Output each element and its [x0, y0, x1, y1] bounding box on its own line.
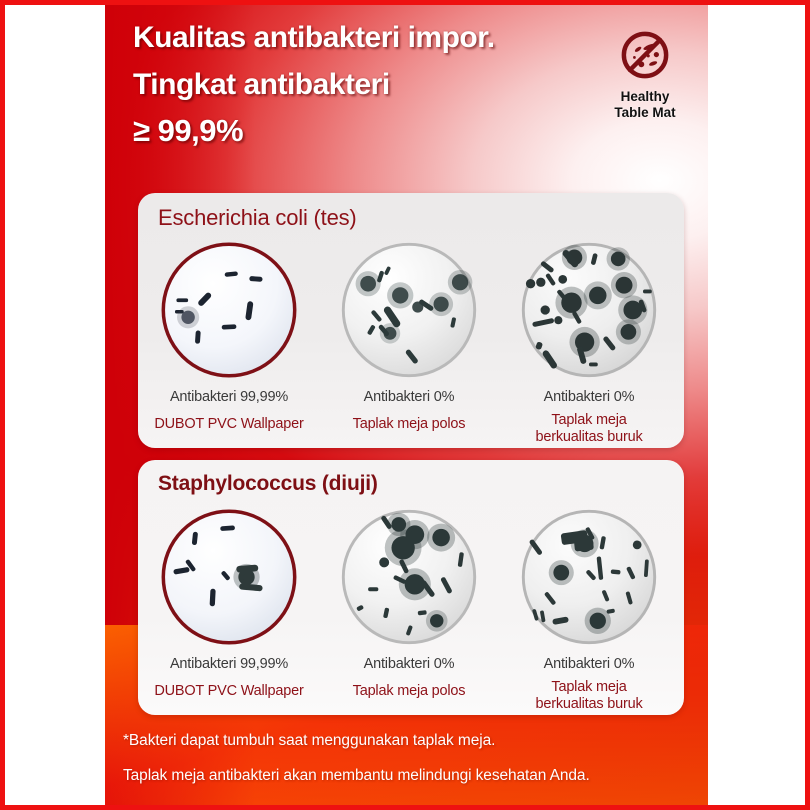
antibacterial-percent: Antibakteri 0%: [318, 389, 500, 406]
no-bacteria-icon: [619, 29, 671, 81]
sample-name: Taplak meja polos: [318, 683, 500, 700]
sample-column-2: Antibakteri 0% Taplak meja berkualitas b…: [498, 237, 680, 446]
test-card-staphylococcus: Staphylococcus (diuji): [138, 460, 684, 715]
dish-row: Antibakteri 99,99% DUBOT PVC Wallpaper: [138, 504, 684, 709]
petri-dish-icon: [516, 237, 662, 383]
logo-label: Healthy Table Mat: [597, 89, 693, 121]
dish-row: Antibakteri 99,99% DUBOT PVC Wallpaper: [138, 237, 684, 442]
sample-column-0: Antibakteri 99,99% DUBOT PVC Wallpaper: [138, 237, 320, 433]
sample-name-line-1: Taplak meja: [498, 679, 680, 696]
antibacterial-percent: Antibakteri 0%: [318, 656, 500, 673]
antibacterial-percent: Antibakteri 99,99%: [138, 389, 320, 406]
brand-logo: Healthy Table Mat: [597, 29, 693, 121]
antibacterial-percent: Antibakteri 0%: [498, 656, 680, 673]
sample-name: DUBOT PVC Wallpaper: [138, 683, 320, 700]
sample-name: Taplak meja polos: [318, 416, 500, 433]
sample-column-1: Antibakteri 0% Taplak meja polos: [318, 504, 500, 700]
sample-name-line-1: Taplak meja: [498, 412, 680, 429]
sample-column-1: Antibakteri 0% Taplak meja polos: [318, 237, 500, 433]
petri-dish-icon: [336, 237, 482, 383]
logo-label-line-1: Healthy: [597, 89, 693, 105]
sample-name-line-2: berkualitas buruk: [498, 429, 680, 446]
sample-column-0: Antibakteri 99,99% DUBOT PVC Wallpaper: [138, 504, 320, 700]
poster-root: Kualitas antibakteri impor. Tingkat anti…: [0, 0, 810, 810]
sample-column-2: Antibakteri 0% Taplak meja berkualitas b…: [498, 504, 680, 713]
petri-dish-icon: [156, 237, 302, 383]
logo-label-line-2: Table Mat: [597, 105, 693, 121]
antibacterial-percent: Antibakteri 99,99%: [138, 656, 320, 673]
petri-dish-icon: [156, 504, 302, 650]
card-title: Staphylococcus (diuji): [158, 472, 378, 496]
card-title: Escherichia coli (tes): [158, 205, 357, 231]
antibacterial-percent: Antibakteri 0%: [498, 389, 680, 406]
footer-note-1: *Bakteri dapat tumbuh saat menggunakan t…: [123, 731, 703, 750]
footer-note-2: Taplak meja antibakteri akan membantu me…: [123, 766, 703, 785]
footer-notes: *Bakteri dapat tumbuh saat menggunakan t…: [123, 731, 703, 786]
sample-name-line-2: berkualitas buruk: [498, 696, 680, 713]
sample-name: Taplak meja berkualitas buruk: [498, 412, 680, 446]
sample-name: DUBOT PVC Wallpaper: [138, 416, 320, 433]
petri-dish-icon: [516, 504, 662, 650]
test-card-ecoli: Escherichia coli (tes): [138, 193, 684, 448]
sample-name: Taplak meja berkualitas buruk: [498, 679, 680, 713]
petri-dish-icon: [336, 504, 482, 650]
